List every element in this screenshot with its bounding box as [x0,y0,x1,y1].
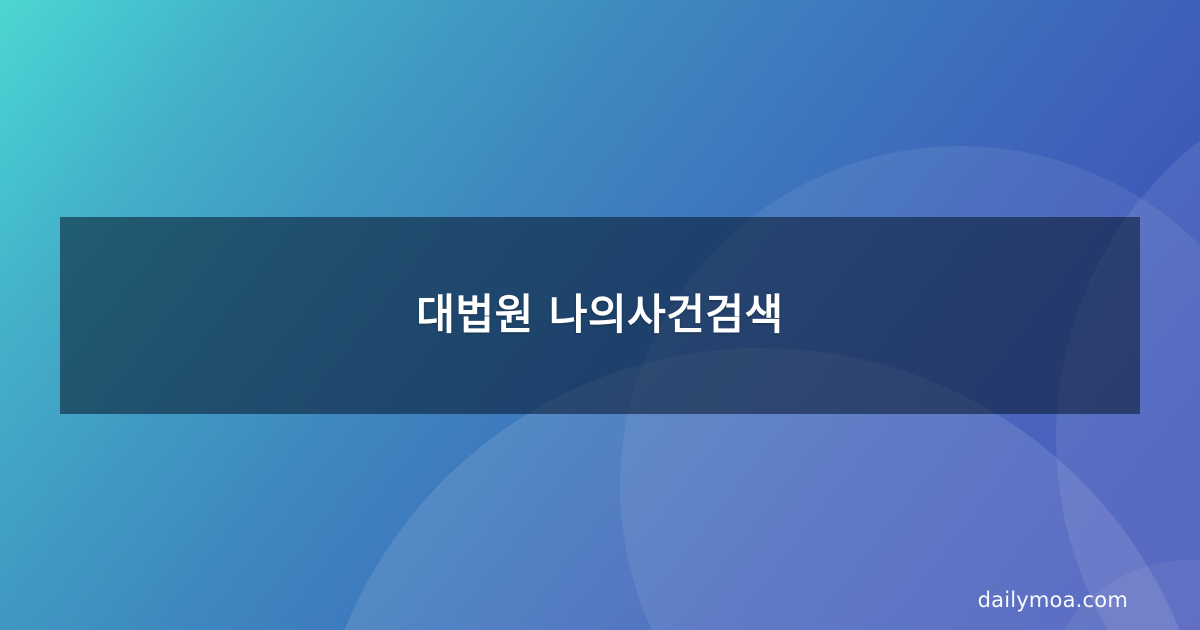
page-title: 대법원 나의사건검색 [416,288,783,343]
site-watermark: dailymoa.com [978,588,1128,612]
og-image-card: 대법원 나의사건검색 dailymoa.com [0,0,1200,630]
title-banner: 대법원 나의사건검색 [60,217,1140,414]
